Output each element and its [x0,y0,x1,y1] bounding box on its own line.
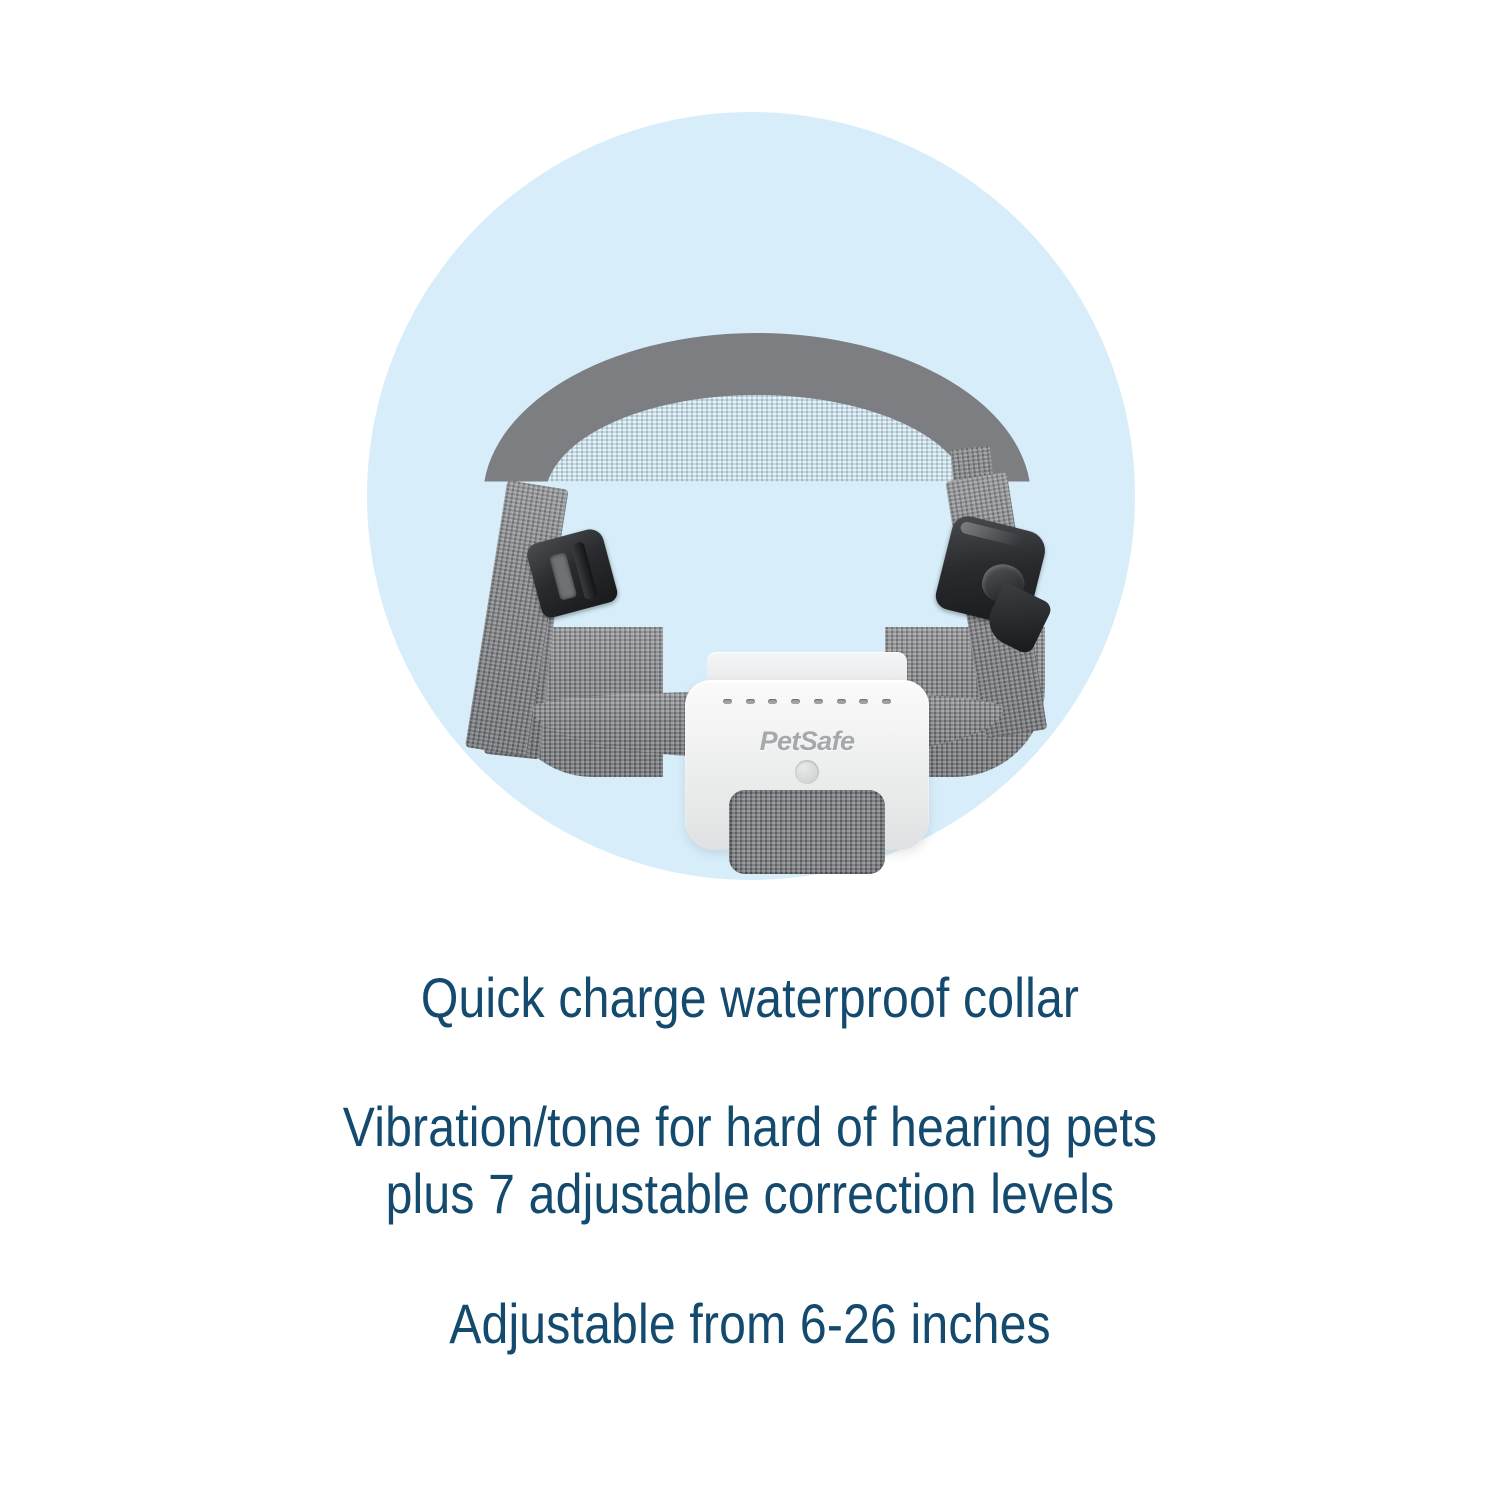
product-feature-page: PetSafe Quick charge waterproof collar V… [0,0,1500,1500]
collar-product-illustration: PetSafe [367,112,1135,880]
buckle-slot [549,552,577,601]
product-hero-image: PetSafe [0,0,1500,950]
indicator-led [859,699,868,704]
quick-release-buckle-icon [933,513,1049,629]
indicator-led [882,699,891,704]
webbing-texture [729,790,885,874]
feature-line-2: Vibration/tone for hard of hearing pets … [105,1093,1395,1227]
feature-list: Quick charge waterproof collar Vibration… [0,960,1500,1357]
indicator-led [837,699,846,704]
indicator-led [746,699,755,704]
indicator-led [791,699,800,704]
indicator-led [723,699,732,704]
indicator-led-row [723,697,891,705]
petsafe-brand-logo: PetSafe [685,726,929,757]
feature-line-1: Quick charge waterproof collar [105,964,1395,1031]
indicator-led [814,699,823,704]
collar-receiver-unit: PetSafe [685,652,929,850]
receiver-strap-window [729,790,885,874]
collar-band: PetSafe [445,327,1065,757]
power-button[interactable] [795,760,819,784]
feature-line-3: Adjustable from 6-26 inches [105,1290,1395,1357]
receiver-housing: PetSafe [685,680,929,850]
indicator-led [768,699,777,704]
